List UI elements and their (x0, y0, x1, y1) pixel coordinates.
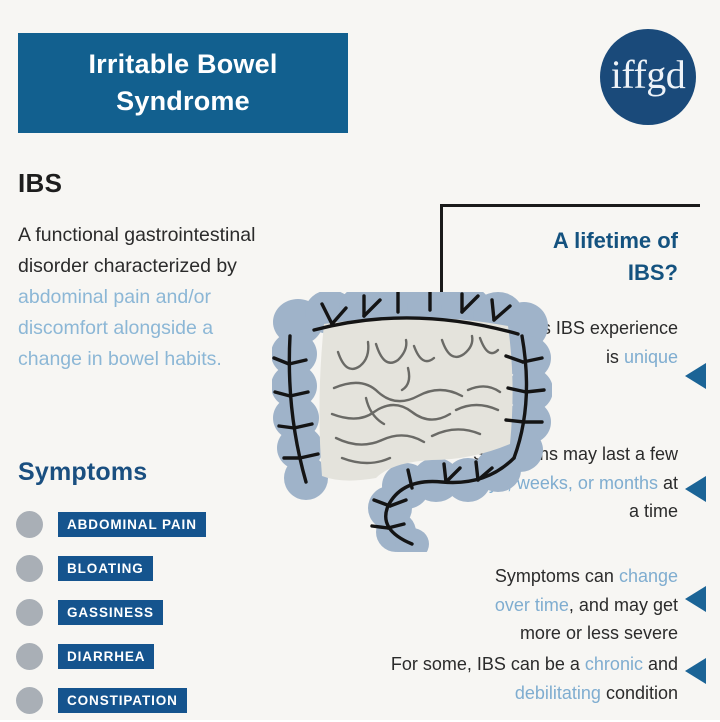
left-triangle-arrow-icon (685, 363, 706, 389)
symptom-label-chip: CONSTIPATION (58, 688, 187, 713)
text-run: condition (601, 683, 678, 703)
ibs-description: A functional gastrointestinal disorder c… (18, 220, 280, 375)
title-line-1: Irritable Bowel (88, 46, 277, 83)
symptom-label-chip: GASSINESS (58, 600, 163, 625)
symptom-label-chip: ABDOMINAL PAIN (58, 512, 206, 537)
ibs-heading: IBS (18, 168, 62, 199)
left-triangle-arrow-icon (685, 658, 706, 684)
title-line-2: Syndrome (116, 83, 250, 120)
highlighted-phrase: unique (624, 347, 678, 367)
symptom-row: CONSTIPATION (14, 678, 264, 722)
lifetime-of-ibs-heading: A lifetime of IBS? (455, 225, 678, 289)
fact-block-chronic: For some, IBS can be a chronic and debil… (378, 650, 678, 707)
bullet-circle-icon (16, 643, 43, 670)
text-run: For some, IBS can be a (391, 654, 585, 674)
highlighted-phrase: debilitating (515, 683, 601, 703)
bullet-circle-icon (16, 599, 43, 626)
symptoms-heading: Symptoms (18, 458, 147, 487)
bullet-circle-icon (16, 511, 43, 538)
title-banner: Irritable Bowel Syndrome (18, 33, 348, 133)
symptom-row: ABDOMINAL PAIN (14, 502, 264, 546)
iffgd-logo: iffgd (600, 29, 696, 125)
symptom-row: DIARRHEA (14, 634, 264, 678)
bullet-circle-icon (16, 555, 43, 582)
lifetime-heading-line-2: IBS? (455, 257, 678, 289)
text-run: and (643, 654, 678, 674)
highlighted-phrase: chronic (585, 654, 643, 674)
symptom-row: BLOATING (14, 546, 264, 590)
lifetime-heading-line-1: A lifetime of (455, 225, 678, 257)
symptom-label-chip: DIARRHEA (58, 644, 154, 669)
fact-block-change-over-time: Symptoms can change over time, and may g… (455, 562, 678, 648)
symptom-row: GASSINESS (14, 590, 264, 634)
bullet-circle-icon (16, 687, 43, 714)
left-triangle-arrow-icon (685, 476, 706, 502)
symptoms-list: ABDOMINAL PAINBLOATINGGASSINESSDIARRHEAC… (14, 502, 264, 722)
highlighted-phrase: abdominal pain and/or discomfort alongsi… (18, 286, 222, 370)
infographic-canvas: Irritable Bowel Syndrome iffgd IBS A fun… (0, 0, 720, 720)
iffgd-logo-text: iffgd (611, 55, 686, 99)
text-run: A functional gastrointestinal disorder c… (18, 224, 255, 277)
left-triangle-arrow-icon (685, 586, 706, 612)
large-intestine-colon-diagram (272, 292, 552, 552)
symptom-label-chip: BLOATING (58, 556, 153, 581)
text-run: Symptoms can (495, 566, 619, 586)
bracket-vertical-line (440, 204, 443, 302)
bracket-horizontal-line (440, 204, 700, 207)
